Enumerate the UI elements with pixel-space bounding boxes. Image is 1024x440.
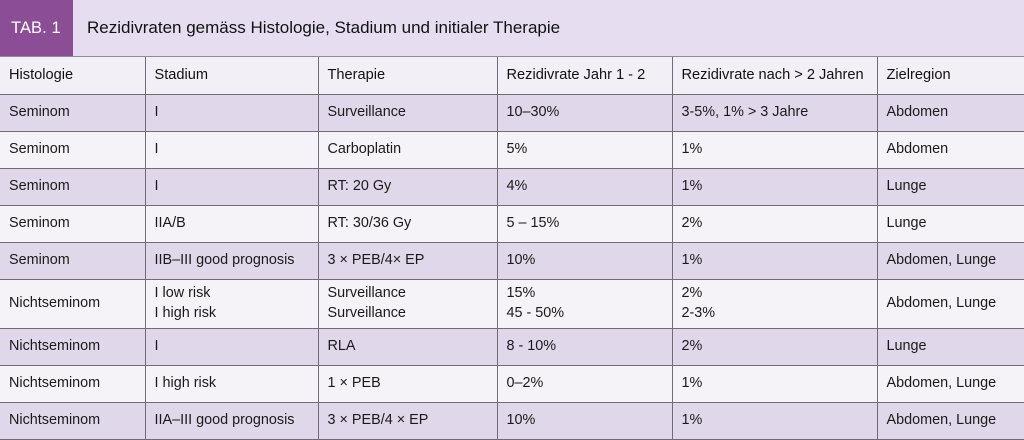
table-row: Seminom I RT: 20 Gy 4% 1% Lunge	[0, 168, 1024, 205]
column-header-therapie: Therapie	[318, 57, 497, 94]
recurrence-rates-table: Histologie Stadium Therapie Rezidivrate …	[0, 57, 1024, 440]
cell-zielregion: Abdomen, Lunge	[877, 365, 1024, 402]
column-header-rezidivrate-nach-2-jahren: Rezidivrate nach > 2 Jahren	[672, 57, 877, 94]
table-row: Seminom IIA/B RT: 30/36 Gy 5 – 15% 2% Lu…	[0, 205, 1024, 242]
cell-zielregion: Lunge	[877, 205, 1024, 242]
cell-zielregion: Lunge	[877, 328, 1024, 365]
cell-therapie: Carboplatin	[318, 131, 497, 168]
table-row: Nichtseminom I RLA 8 - 10% 2% Lunge	[0, 328, 1024, 365]
cell-stadium: I low risk I high risk	[145, 279, 318, 328]
cell-histologie: Nichtseminom	[0, 365, 145, 402]
cell-stadium: I	[145, 328, 318, 365]
cell-therapie: Surveillance Surveillance	[318, 279, 497, 328]
table-row: Seminom I Carboplatin 5% 1% Abdomen	[0, 131, 1024, 168]
cell-rezidivrate-nach-2-jahren: 1%	[672, 168, 877, 205]
cell-therapie: RT: 20 Gy	[318, 168, 497, 205]
cell-therapie: RT: 30/36 Gy	[318, 205, 497, 242]
cell-zielregion: Abdomen, Lunge	[877, 242, 1024, 279]
cell-stadium: IIB–III good prognosis	[145, 242, 318, 279]
cell-zielregion: Abdomen	[877, 94, 1024, 131]
cell-therapie: 3 × PEB/4× EP	[318, 242, 497, 279]
table-title: Rezidivraten gemäss Histologie, Stadium …	[73, 0, 560, 56]
cell-stadium: I high risk	[145, 365, 318, 402]
column-header-histologie: Histologie	[0, 57, 145, 94]
column-header-stadium: Stadium	[145, 57, 318, 94]
cell-zielregion: Lunge	[877, 168, 1024, 205]
cell-stadium: I	[145, 131, 318, 168]
table-row: Nichtseminom I low risk I high risk Surv…	[0, 279, 1024, 328]
column-header-zielregion: Zielregion	[877, 57, 1024, 94]
cell-rezidivrate-jahr-1-2: 10%	[497, 242, 672, 279]
cell-rezidivrate-jahr-1-2: 15% 45 - 50%	[497, 279, 672, 328]
cell-histologie: Seminom	[0, 131, 145, 168]
cell-therapie: RLA	[318, 328, 497, 365]
cell-rezidivrate-nach-2-jahren: 2%	[672, 205, 877, 242]
cell-zielregion: Abdomen, Lunge	[877, 279, 1024, 328]
table-body: Seminom I Surveillance 10–30% 3-5%, 1% >…	[0, 94, 1024, 439]
cell-rezidivrate-nach-2-jahren: 2% 2-3%	[672, 279, 877, 328]
cell-rezidivrate-nach-2-jahren: 1%	[672, 242, 877, 279]
cell-rezidivrate-nach-2-jahren: 1%	[672, 365, 877, 402]
cell-rezidivrate-jahr-1-2: 4%	[497, 168, 672, 205]
table-title-band: TAB. 1 Rezidivraten gemäss Histologie, S…	[0, 0, 1024, 57]
cell-rezidivrate-nach-2-jahren: 1%	[672, 131, 877, 168]
column-header-rezidivrate-jahr-1-2: Rezidivrate Jahr 1 - 2	[497, 57, 672, 94]
table-header-row: Histologie Stadium Therapie Rezidivrate …	[0, 57, 1024, 94]
cell-histologie: Seminom	[0, 205, 145, 242]
cell-stadium: I	[145, 168, 318, 205]
cell-histologie: Nichtseminom	[0, 279, 145, 328]
cell-rezidivrate-nach-2-jahren: 2%	[672, 328, 877, 365]
table-row: Seminom I Surveillance 10–30% 3-5%, 1% >…	[0, 94, 1024, 131]
cell-therapie: 1 × PEB	[318, 365, 497, 402]
cell-histologie: Seminom	[0, 168, 145, 205]
table-figure: TAB. 1 Rezidivraten gemäss Histologie, S…	[0, 0, 1024, 440]
cell-histologie: Seminom	[0, 94, 145, 131]
table-number-badge: TAB. 1	[0, 0, 73, 56]
cell-rezidivrate-jahr-1-2: 0–2%	[497, 365, 672, 402]
cell-rezidivrate-jahr-1-2: 8 - 10%	[497, 328, 672, 365]
cell-stadium: IIA/B	[145, 205, 318, 242]
cell-rezidivrate-jahr-1-2: 5 – 15%	[497, 205, 672, 242]
cell-rezidivrate-jahr-1-2: 10–30%	[497, 94, 672, 131]
cell-rezidivrate-jahr-1-2: 5%	[497, 131, 672, 168]
cell-rezidivrate-nach-2-jahren: 3-5%, 1% > 3 Jahre	[672, 94, 877, 131]
table-row: Seminom IIB–III good prognosis 3 × PEB/4…	[0, 242, 1024, 279]
cell-stadium: I	[145, 94, 318, 131]
cell-zielregion: Abdomen	[877, 131, 1024, 168]
cell-histologie: Seminom	[0, 242, 145, 279]
cell-therapie: Surveillance	[318, 94, 497, 131]
cell-histologie: Nichtseminom	[0, 328, 145, 365]
table-row: Nichtseminom I high risk 1 × PEB 0–2% 1%…	[0, 365, 1024, 402]
